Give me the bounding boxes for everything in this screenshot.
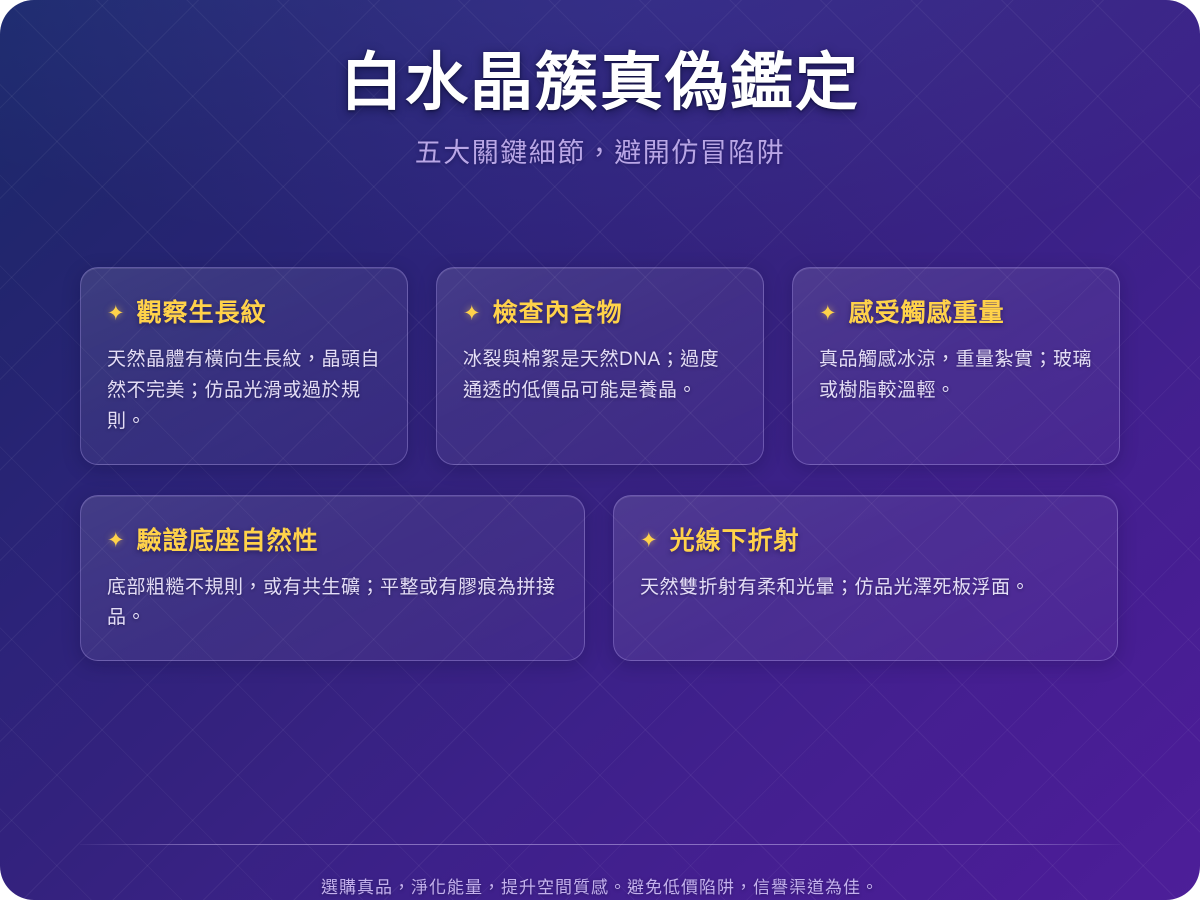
sparkle-icon: ✦ [107,530,126,551]
tip-card-3-heading-text: 感受觸感重量 [849,298,1005,328]
tip-card-2-heading-text: 檢查內含物 [493,298,623,328]
card-grid-row-2: ✦ 驗證底座自然性 底部粗糙不規則，或有共生礦；平整或有膠痕為拼接品。 ✦ 光線… [80,495,1120,662]
poster-footer: 選購真品，淨化能量，提升空間質感。避免低價陷阱，信譽渠道為佳。 [80,844,1120,900]
poster-content: 白水晶簇真偽鑑定 五大關鍵細節，避開仿冒陷阱 ✦ 觀察生長紋 天然晶體有橫向生長… [0,0,1200,900]
tip-card-1-heading-text: 觀察生長紋 [137,298,267,328]
tip-card-1-heading: ✦ 觀察生長紋 [107,298,381,328]
sparkle-icon: ✦ [819,303,838,324]
tip-card-2: ✦ 檢查內含物 冰裂與棉絮是天然DNA；過度通透的低價品可能是養晶。 [436,267,764,464]
page-subtitle: 五大關鍵細節，避開仿冒陷阱 [80,136,1120,171]
tip-card-4-heading: ✦ 驗證底座自然性 [107,526,558,556]
tip-card-5-heading-text: 光線下折射 [670,526,800,556]
tip-card-2-body: 冰裂與棉絮是天然DNA；過度通透的低價品可能是養晶。 [463,345,737,407]
tip-card-1: ✦ 觀察生長紋 天然晶體有橫向生長紋，晶頭自然不完美；仿品光滑或過於規則。 [80,267,408,464]
tip-card-3: ✦ 感受觸感重量 真品觸感冰涼，重量紮實；玻璃或樹脂較溫輕。 [792,267,1120,464]
tip-card-4-body: 底部粗糙不規則，或有共生礦；平整或有膠痕為拼接品。 [107,573,558,635]
tip-card-1-body: 天然晶體有橫向生長紋，晶頭自然不完美；仿品光滑或過於規則。 [107,345,381,437]
tip-card-3-heading: ✦ 感受觸感重量 [819,298,1093,328]
poster-header: 白水晶簇真偽鑑定 五大關鍵細節，避開仿冒陷阱 [80,0,1120,171]
card-grid-row-1: ✦ 觀察生長紋 天然晶體有橫向生長紋，晶頭自然不完美；仿品光滑或過於規則。 ✦ … [80,267,1120,464]
sparkle-icon: ✦ [107,303,126,324]
tip-card-2-heading: ✦ 檢查內含物 [463,298,737,328]
page-title: 白水晶簇真偽鑑定 [80,46,1120,120]
tip-card-5: ✦ 光線下折射 天然雙折射有柔和光暈；仿品光澤死板浮面。 [613,495,1118,662]
tip-card-5-body: 天然雙折射有柔和光暈；仿品光澤死板浮面。 [640,573,1091,604]
tip-card-4: ✦ 驗證底座自然性 底部粗糙不規則，或有共生礦；平整或有膠痕為拼接品。 [80,495,585,662]
tip-card-3-body: 真品觸感冰涼，重量紮實；玻璃或樹脂較溫輕。 [819,345,1093,407]
footer-note: 選購真品，淨化能量，提升空間質感。避免低價陷阱，信譽渠道為佳。 [80,845,1120,900]
tip-card-5-heading: ✦ 光線下折射 [640,526,1091,556]
infographic-poster: 白水晶簇真偽鑑定 五大關鍵細節，避開仿冒陷阱 ✦ 觀察生長紋 天然晶體有橫向生長… [0,0,1200,900]
tip-card-4-heading-text: 驗證底座自然性 [137,526,319,556]
sparkle-icon: ✦ [463,303,482,324]
sparkle-icon: ✦ [640,530,659,551]
